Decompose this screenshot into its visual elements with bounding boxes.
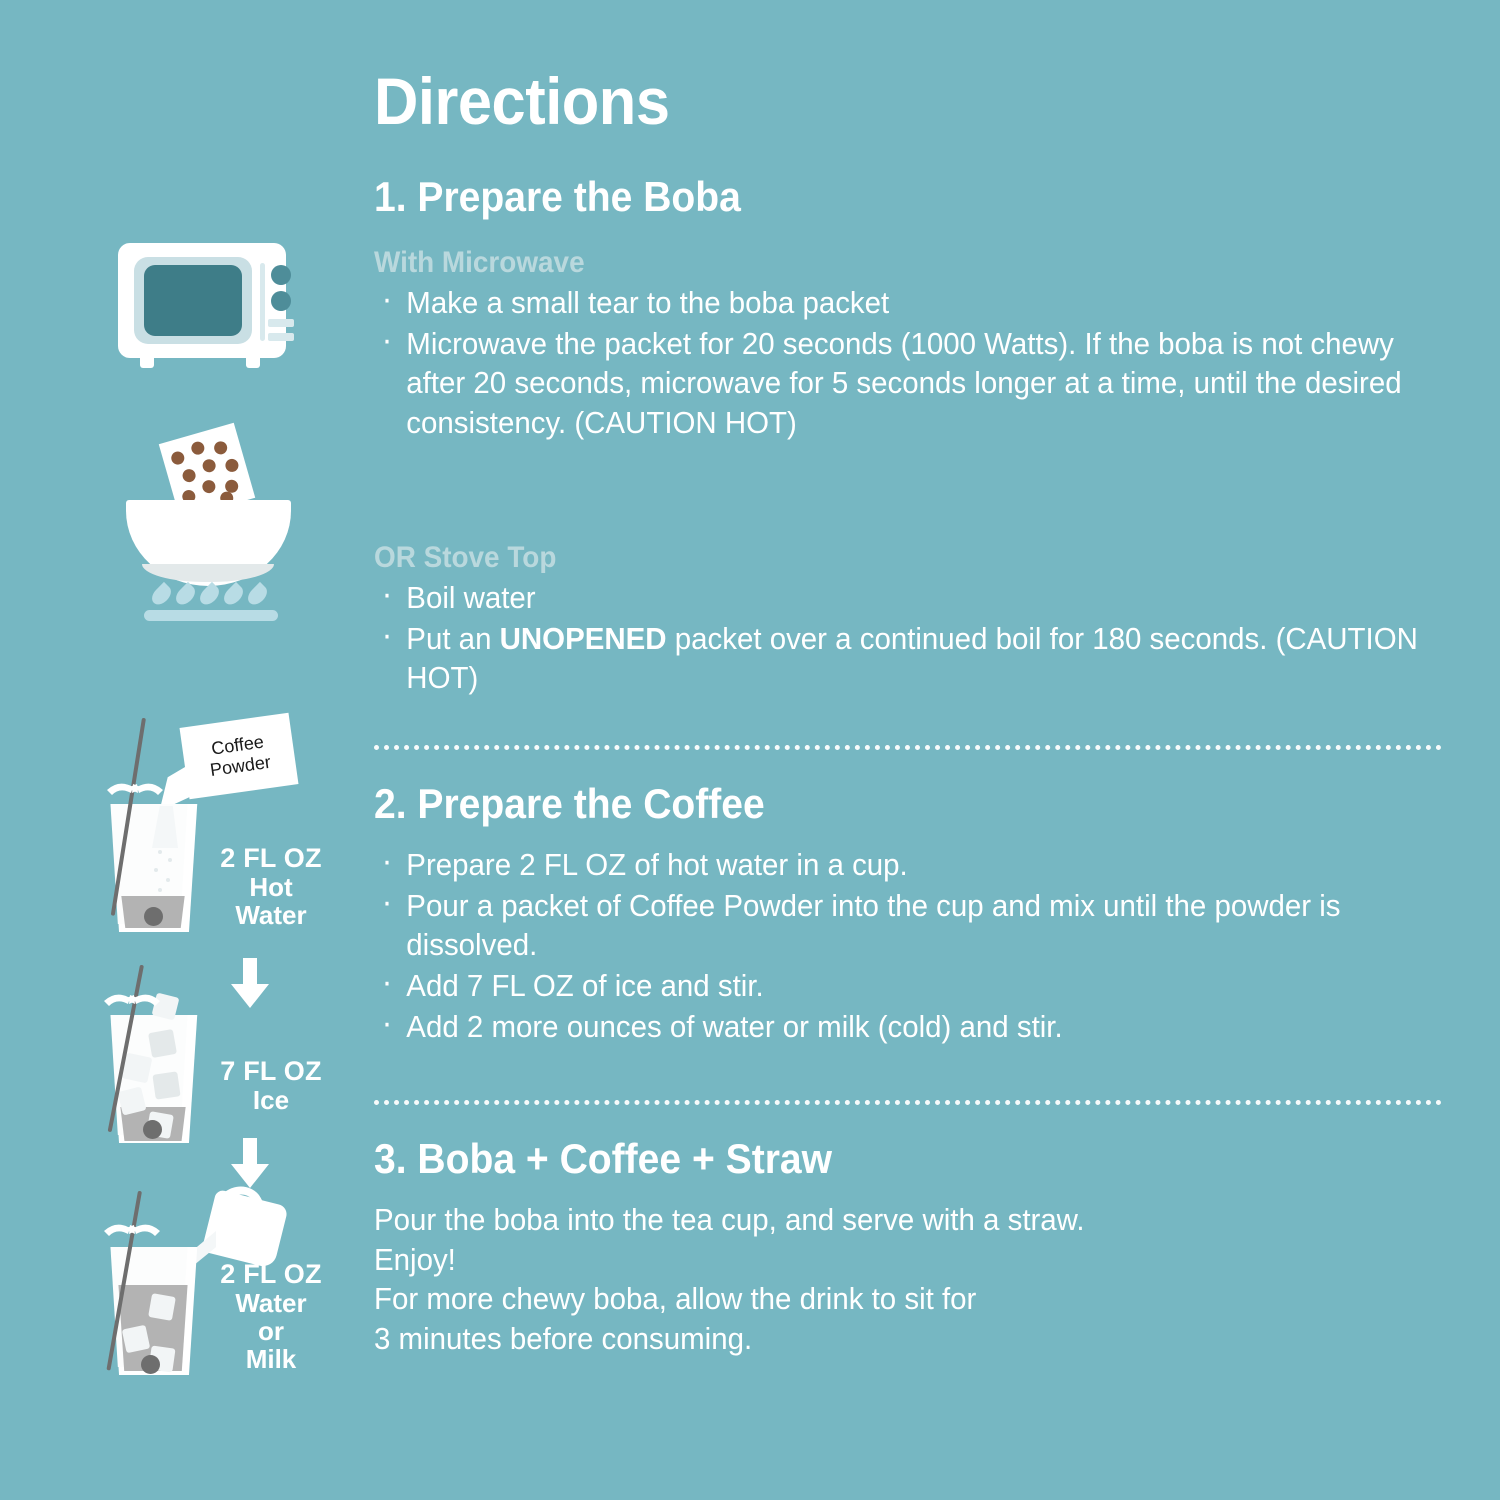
list-item: Put an UNOPENED packet over a continued …	[374, 619, 1457, 698]
cup-water-milk-illustration: 2 FL OZ Water or Milk	[108, 1185, 348, 1400]
qty-label-2: 7 FL OZ Ice	[206, 1057, 336, 1114]
bullet-list-stovetop: Boil water Put an UNOPENED packet over a…	[374, 578, 1457, 698]
burner-bar	[144, 610, 278, 621]
stir-spoon-head-1	[144, 907, 163, 926]
list-item: Add 2 more ounces of water or milk (cold…	[374, 1007, 1457, 1047]
flame-2	[172, 582, 198, 608]
divider-2	[374, 1100, 1442, 1105]
microwave-button-bar-1	[268, 319, 294, 327]
qty-line1-2: Ice	[206, 1086, 336, 1114]
qty-amount-3: 2 FL OZ	[206, 1260, 336, 1289]
microwave-divider-line	[260, 263, 265, 341]
qty-line2-1: Water	[206, 901, 336, 929]
list-item: Prepare 2 FL OZ of hot water in a cup.	[374, 845, 1457, 885]
stir-arrows-2	[100, 989, 164, 1015]
page-title: Directions	[374, 68, 670, 134]
bullet-list-microwave: Make a small tear to the boba packet Mic…	[374, 283, 1457, 443]
illustration-column: Coffee Powder 2	[0, 0, 360, 1500]
instructions-column: Directions 1. Prepare the Boba With Micr…	[374, 0, 1454, 1500]
qty-line2-3: or	[206, 1317, 336, 1345]
flame-1	[148, 582, 174, 608]
stir-spoon-head-2	[143, 1120, 162, 1139]
microwave-foot-left	[140, 356, 154, 368]
bullet-list-coffee: Prepare 2 FL OZ of hot water in a cup. P…	[374, 845, 1457, 1046]
flame-4	[220, 582, 246, 608]
bowl-shadow	[142, 564, 274, 582]
step1-stovetop-bullets: Boil water Put an UNOPENED packet over a…	[374, 578, 1457, 699]
paragraph: Pour the boba into the tea cup, and serv…	[374, 1200, 1457, 1240]
list-item: Add 7 FL OZ of ice and stir.	[374, 966, 1457, 1006]
cup-hot-water-illustration: Coffee Powder 2	[108, 722, 348, 952]
step3-heading: 3. Boba + Coffee + Straw	[374, 1138, 832, 1180]
flame-5	[244, 582, 270, 608]
directions-panel: Coffee Powder 2	[0, 0, 1500, 1500]
paragraph: For more chewy boba, allow the drink to …	[374, 1279, 1457, 1319]
step1-heading: 1. Prepare the Boba	[374, 176, 741, 218]
qty-line1-1: Hot	[206, 873, 336, 901]
step1-stovetop-subheading: OR Stove Top	[374, 543, 556, 573]
qty-amount-1: 2 FL OZ	[206, 844, 336, 873]
step2-heading: 2. Prepare the Coffee	[374, 783, 765, 825]
qty-label-3: 2 FL OZ Water or Milk	[206, 1260, 336, 1373]
list-item: Make a small tear to the boba packet	[374, 283, 1457, 323]
microwave-icon	[118, 243, 303, 373]
pitcher-body	[201, 1189, 288, 1269]
step1-microwave-subheading: With Microwave	[374, 248, 585, 278]
qty-amount-2: 7 FL OZ	[206, 1057, 336, 1086]
bowl-on-stove-icon	[108, 432, 308, 622]
divider-1	[374, 745, 1442, 750]
step2-bullets: Prepare 2 FL OZ of hot water in a cup. P…	[374, 845, 1457, 1047]
down-arrow-2	[227, 1138, 273, 1188]
step3-paragraphs: Pour the boba into the tea cup, and serv…	[374, 1200, 1457, 1359]
qty-line3-3: Milk	[206, 1345, 336, 1373]
paragraph: 3 minutes before consuming.	[374, 1319, 1457, 1359]
flame-3	[196, 582, 222, 608]
stir-spoon-head-3	[141, 1355, 160, 1374]
qty-label-1: 2 FL OZ Hot Water	[206, 844, 336, 929]
list-item: Pour a packet of Coffee Powder into the …	[374, 886, 1457, 965]
microwave-screen	[144, 265, 242, 336]
microwave-knob-upper	[271, 265, 291, 285]
qty-line1-3: Water	[206, 1289, 336, 1317]
paragraph: Enjoy!	[374, 1240, 1457, 1280]
stir-arrows-3	[100, 1219, 164, 1245]
microwave-knob-lower	[271, 291, 291, 311]
stir-arrows-1	[103, 778, 167, 804]
list-item: Microwave the packet for 20 seconds (100…	[374, 324, 1457, 443]
microwave-foot-right	[246, 356, 260, 368]
list-item: Boil water	[374, 578, 1457, 618]
microwave-button-bar-2	[268, 333, 294, 341]
step1-microwave-bullets: Make a small tear to the boba packet Mic…	[374, 283, 1457, 444]
cup-ice-illustration: 7 FL OZ Ice	[108, 985, 348, 1160]
